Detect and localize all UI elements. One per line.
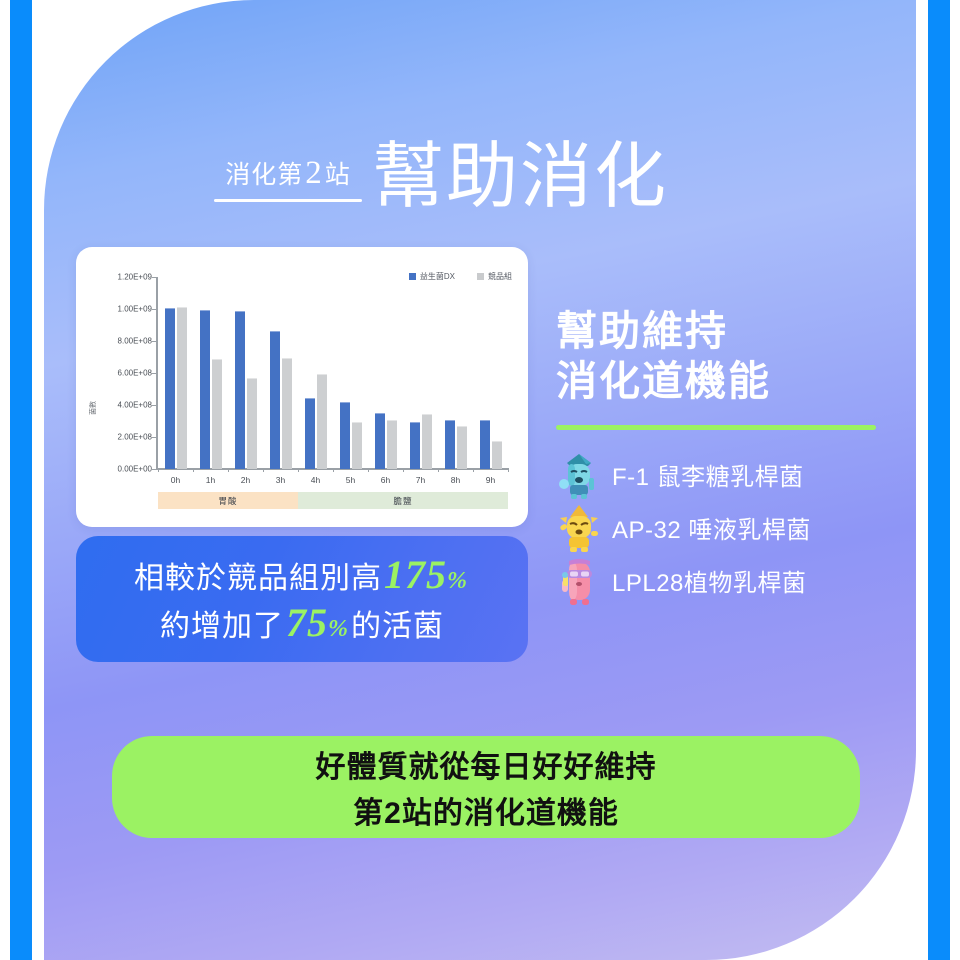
footer-line-1: 好體質就從每日好好維持 (316, 742, 657, 786)
kicker-number: 2 (303, 155, 325, 191)
bar-group (438, 277, 473, 469)
stat-line-1-unit: % (447, 568, 468, 594)
y-axis-tick (152, 469, 157, 470)
bar-group (228, 277, 263, 469)
x-axis-tick (403, 468, 404, 472)
bars-container (158, 277, 508, 469)
stat-line-2-suffix: 的活菌 (351, 601, 444, 645)
bar (352, 422, 362, 469)
phase-band: 膽鹽 (298, 492, 508, 509)
strain-label: AP-32 唾液乳桿菌 (612, 510, 811, 545)
x-axis-labels: 0h1h2h3h4h5h6h7h8h9h (158, 475, 508, 485)
bar (247, 378, 257, 469)
stat-line-2-prefix: 約增加了 (160, 601, 284, 645)
bar (165, 308, 175, 469)
y-axis-tick (152, 437, 157, 438)
stat-line-1: 相較於競品組別高175% (134, 553, 470, 597)
x-axis-tick-label: 0h (158, 475, 193, 485)
stat-line-1-value: 175 (384, 552, 447, 597)
stat-card: 相較於競品組別高175% 約增加了75%的活菌 (76, 536, 528, 662)
stat-line-2: 約增加了75%的活菌 (160, 601, 444, 645)
x-axis-tick (508, 468, 509, 472)
x-axis-tick-label: 2h (228, 475, 263, 485)
strain-list: F-1 鼠李糖乳桿菌 (556, 448, 886, 607)
y-axis-tick (152, 309, 157, 310)
y-axis-tick (152, 341, 157, 342)
bar (480, 420, 490, 469)
stat-line-1-highlight: 175% (382, 555, 470, 595)
footer-banner: 好體質就從每日好好維持 第2站的消化道機能 (112, 736, 860, 838)
y-axis-tick-label: 8.00E+08 (118, 337, 152, 346)
bar-group (368, 277, 403, 469)
poster-root: 消化第2站 幫助消化 益生菌DX 競品組 菌數 1.20E+091.00E+09… (0, 0, 960, 960)
x-axis-tick-label: 4h (298, 475, 333, 485)
y-axis-tick (152, 373, 157, 374)
list-item: LPL28植物乳桿菌 (556, 554, 886, 607)
x-axis-tick (438, 468, 439, 472)
y-axis-tick-label: 4.00E+08 (118, 401, 152, 410)
stat-line-1-prefix: 相較於競品組別高 (134, 553, 382, 597)
bar (492, 441, 502, 469)
kicker-prefix: 消化第 (225, 162, 303, 189)
bar (305, 398, 315, 469)
bar (317, 374, 327, 469)
x-axis-tick (263, 468, 264, 472)
y-axis-labels: 1.20E+091.00E+098.00E+086.00E+084.00E+08… (98, 277, 156, 469)
x-axis-tick-label: 6h (368, 475, 403, 485)
bar-group (193, 277, 228, 469)
phase-bands: 胃酸膽鹽 (158, 492, 508, 509)
stat-line-2-value: 75 (286, 600, 328, 645)
yellow-mascot-icon (556, 503, 602, 553)
y-axis-tick-label: 6.00E+08 (118, 369, 152, 378)
stat-line-2-highlight: 75% (284, 603, 351, 643)
x-axis-tick (193, 468, 194, 472)
bar (445, 420, 455, 469)
x-axis-tick-label: 9h (473, 475, 508, 485)
bar-group (158, 277, 193, 469)
page-title: 幫助消化 (372, 143, 668, 212)
bar (457, 426, 467, 469)
footer-line-2: 第2站的消化道機能 (353, 788, 619, 832)
left-blue-rail (10, 0, 32, 960)
x-axis-tick-label: 8h (438, 475, 473, 485)
bar-group (298, 277, 333, 469)
strain-label: LPL28植物乳桿菌 (612, 563, 806, 598)
bar (410, 422, 420, 469)
header-kicker-block: 消化第2站 (214, 157, 362, 212)
bar-group (403, 277, 438, 469)
chart-plot: 菌數 1.20E+091.00E+098.00E+086.00E+084.00E… (76, 247, 528, 527)
bar-group (263, 277, 298, 469)
y-axis-tick-label: 1.20E+09 (118, 273, 152, 282)
x-axis-tick (228, 468, 229, 472)
bar (212, 359, 222, 469)
phase-band: 胃酸 (158, 492, 298, 509)
x-axis-tick (333, 468, 334, 472)
list-item: AP-32 唾液乳桿菌 (556, 501, 886, 554)
right-blue-rail (928, 0, 950, 960)
chart-card: 益生菌DX 競品組 菌數 1.20E+091.00E+098.00E+086.0… (76, 247, 528, 527)
y-axis-tick-label: 1.00E+09 (118, 305, 152, 314)
kicker-underline (214, 199, 362, 202)
strain-label: F-1 鼠李糖乳桿菌 (612, 457, 804, 492)
subheading-line-2: 消化道機能 (556, 356, 886, 406)
x-axis-tick (473, 468, 474, 472)
y-axis-tick-label: 2.00E+08 (118, 433, 152, 442)
x-axis-tick (298, 468, 299, 472)
x-axis-tick-label: 1h (193, 475, 228, 485)
bar (177, 307, 187, 469)
y-axis-tick-label: 0.00E+00 (118, 465, 152, 474)
bar-group (473, 277, 508, 469)
bar (235, 311, 245, 469)
header: 消化第2站 幫助消化 (44, 112, 916, 212)
kicker-suffix: 站 (325, 162, 351, 189)
pink-mascot-icon (556, 556, 602, 606)
x-axis-tick (158, 468, 159, 472)
bar (375, 413, 385, 469)
x-axis-tick (368, 468, 369, 472)
right-column: 幫助維持 消化道機能 (556, 306, 886, 607)
list-item: F-1 鼠李糖乳桿菌 (556, 448, 886, 501)
subheading-line-1: 幫助維持 (556, 306, 886, 356)
stat-line-2-unit: % (328, 616, 349, 642)
green-divider (556, 425, 876, 430)
bar-group (333, 277, 368, 469)
bar (282, 358, 292, 469)
y-axis-title: 菌數 (88, 401, 98, 415)
bar (340, 402, 350, 469)
y-axis-tick (152, 405, 157, 406)
bar (200, 310, 210, 469)
y-axis-tick (152, 277, 157, 278)
x-axis-tick-label: 7h (403, 475, 438, 485)
bar (387, 420, 397, 469)
bar (422, 414, 432, 469)
header-kicker: 消化第2站 (225, 157, 351, 190)
teal-mascot-icon (556, 450, 602, 500)
x-axis-tick-label: 3h (263, 475, 298, 485)
bar (270, 331, 280, 469)
x-axis-tick-label: 5h (333, 475, 368, 485)
